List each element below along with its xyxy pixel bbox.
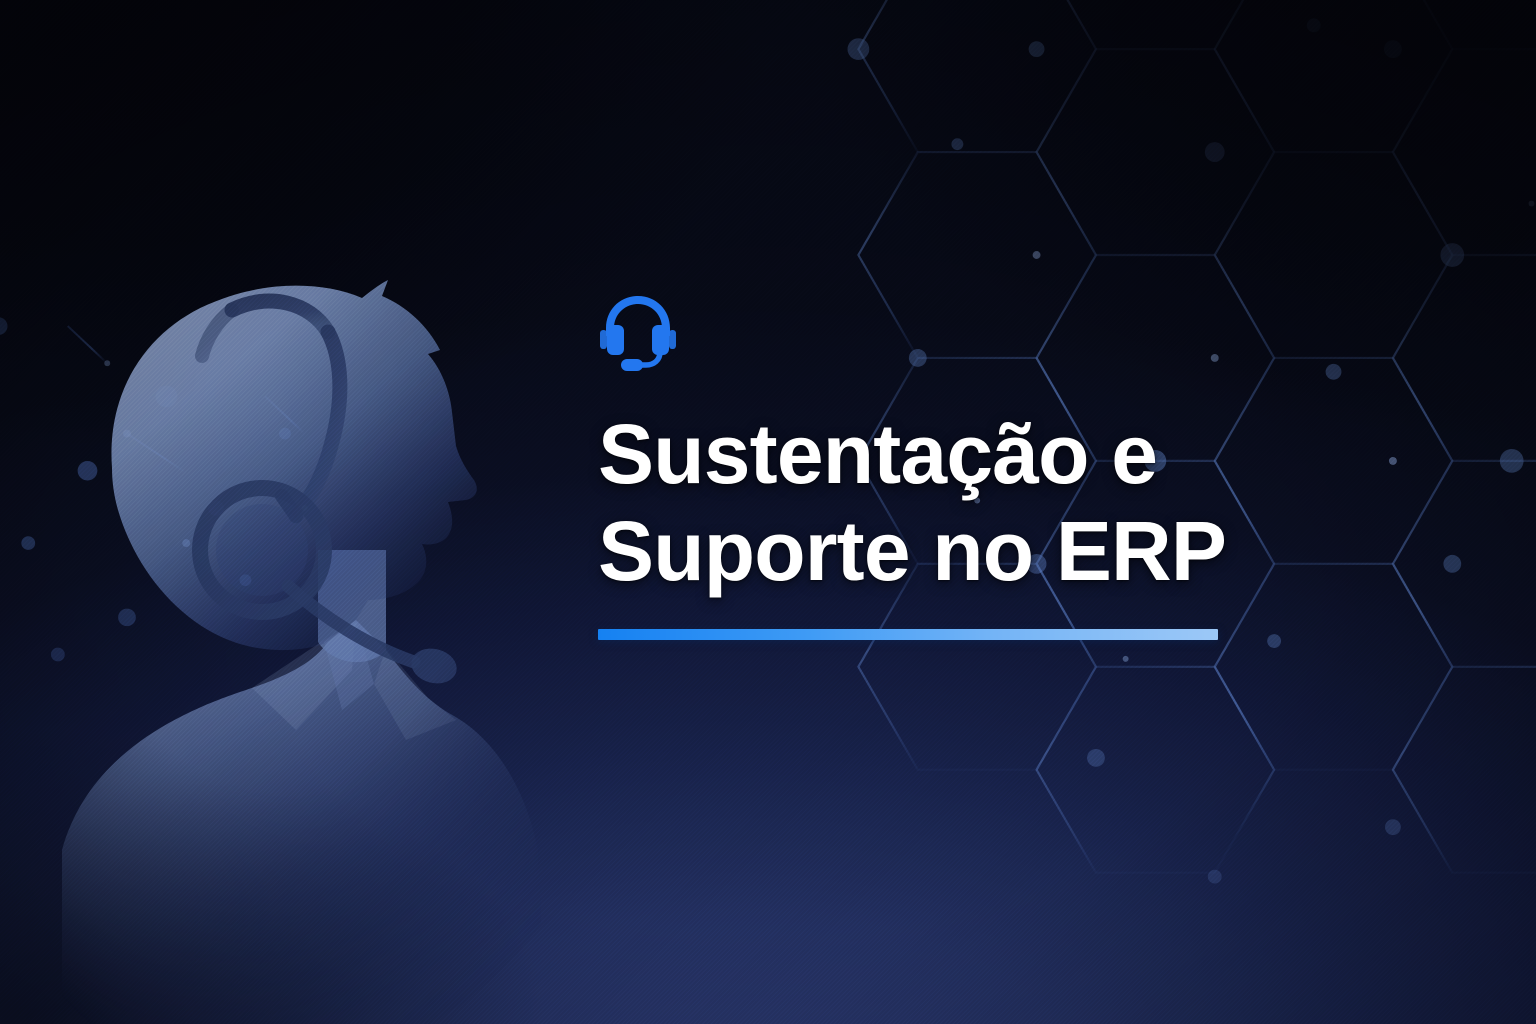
support-agent-silhouette: [56, 150, 576, 1024]
slide-canvas: Sustentação e Suporte no ERP: [0, 0, 1536, 1024]
page-title: Sustentação e Suporte no ERP: [598, 372, 1298, 601]
slide-content: Sustentação e Suporte no ERP: [598, 288, 1298, 640]
accent-underline-bar: [598, 629, 1218, 640]
headset-icon: [596, 288, 680, 372]
